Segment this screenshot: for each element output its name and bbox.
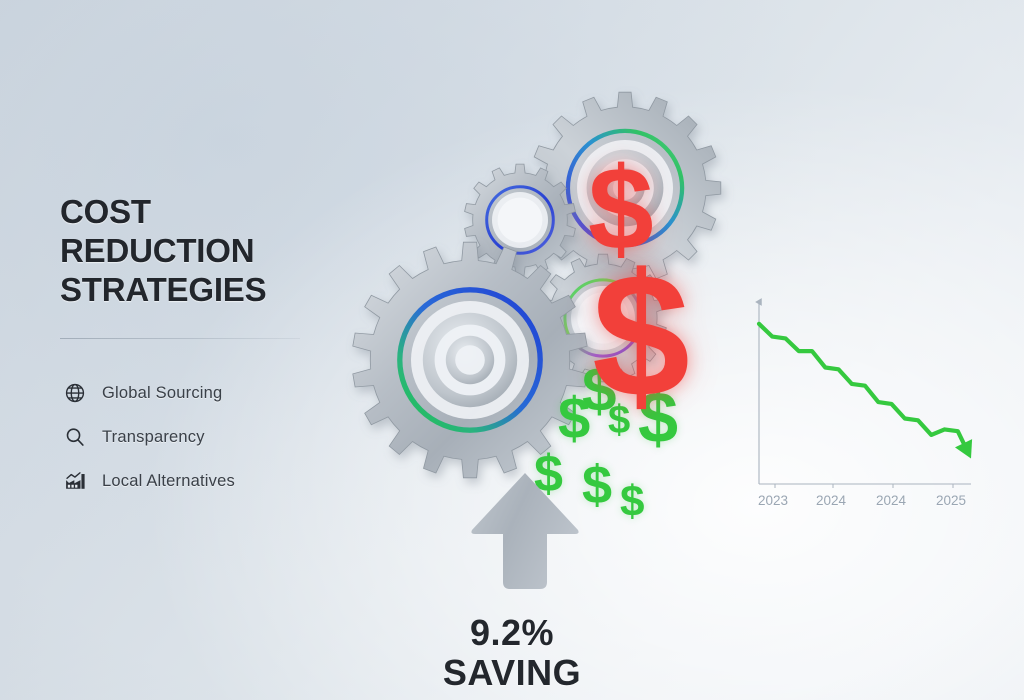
dollar-sign-green: $ bbox=[558, 390, 590, 448]
feature-item-transparency: Transparency bbox=[60, 415, 360, 459]
feature-label: Transparency bbox=[102, 428, 205, 447]
chart-x-tick-label: 2024 bbox=[816, 493, 846, 508]
chart-axes bbox=[759, 302, 971, 488]
left-content-panel: COST REDUCTION STRATEGIES Global Sourcin… bbox=[60, 193, 360, 310]
dollar-sign-green: $ bbox=[620, 480, 644, 524]
up-arrow bbox=[468, 470, 582, 592]
chart-x-tick-label: 2023 bbox=[758, 493, 788, 508]
feature-label: Global Sourcing bbox=[102, 384, 222, 403]
infographic-canvas: COST REDUCTION STRATEGIES Global Sourcin… bbox=[0, 0, 1024, 700]
chart-trend-line bbox=[759, 324, 966, 449]
saving-percent: 9.2% bbox=[0, 612, 1024, 654]
feature-item-local-alternatives: Local Alternatives bbox=[60, 459, 360, 503]
title-line-2: REDUCTION bbox=[60, 232, 360, 271]
title-line-3: STRATEGIES bbox=[60, 271, 360, 310]
divider bbox=[60, 338, 300, 339]
chart-series-line bbox=[759, 324, 972, 459]
chart-x-tick-label: 2025 bbox=[936, 493, 966, 508]
globe-icon bbox=[60, 378, 90, 408]
factory-icon bbox=[60, 466, 90, 496]
saving-label: SAVING bbox=[0, 652, 1024, 694]
dollar-sign-red: $ bbox=[592, 248, 690, 424]
feature-list: Global Sourcing Transparency bbox=[60, 371, 360, 503]
gear-large bbox=[353, 242, 587, 478]
feature-item-global-sourcing: Global Sourcing bbox=[60, 371, 360, 415]
search-icon bbox=[60, 422, 90, 452]
page-title: COST REDUCTION STRATEGIES bbox=[60, 193, 360, 310]
title-line-1: COST bbox=[60, 193, 360, 232]
chart-x-tick-label: 2024 bbox=[876, 493, 906, 508]
cost-trend-chart: 2023202420242025 bbox=[745, 288, 985, 538]
dollar-sign-green: $ bbox=[582, 458, 612, 512]
feature-label: Local Alternatives bbox=[102, 472, 235, 491]
